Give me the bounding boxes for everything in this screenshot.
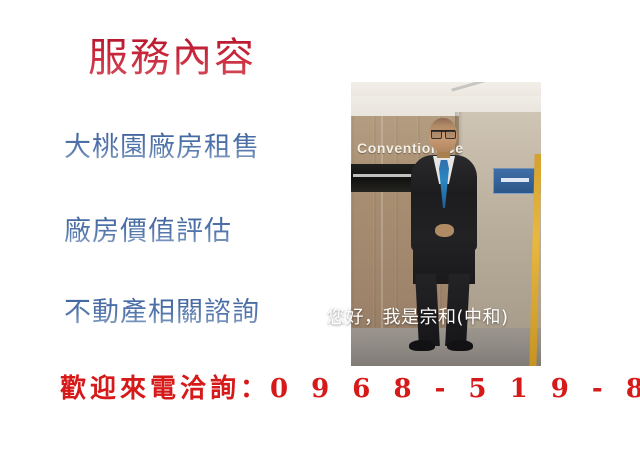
contact-line: 歡迎來電洽詢：0 9 6 8 - 5 1 9 - 8 8 8 — [60, 372, 580, 406]
photo-person-glasses-left-lens — [431, 130, 442, 139]
service-item-2: 廠房價值評估 — [64, 215, 232, 249]
photo-blue-plaque-bar — [501, 178, 529, 182]
photo-caption: 您好，我是宗和(中和) — [327, 306, 509, 330]
service-item-3: 不動產相關諮詢 — [64, 296, 260, 330]
slide-canvas: 服務內容 大桃園廠房租售 廠房價值評估 不動產相關諮詢 Convention C… — [0, 0, 640, 451]
page-title: 服務內容 — [88, 34, 256, 82]
photo-person-hands — [435, 224, 454, 237]
photo-person-glasses-right-lens — [445, 130, 456, 139]
contact-phone-number: 0 9 6 8 - 5 1 9 - 8 8 8 — [270, 374, 640, 404]
service-item-1: 大桃園廠房租售 — [64, 131, 260, 165]
photo-person-right-shoe — [447, 340, 473, 351]
photo-person-left-shoe — [409, 340, 435, 351]
contact-label: 歡迎來電洽詢： — [60, 374, 270, 404]
